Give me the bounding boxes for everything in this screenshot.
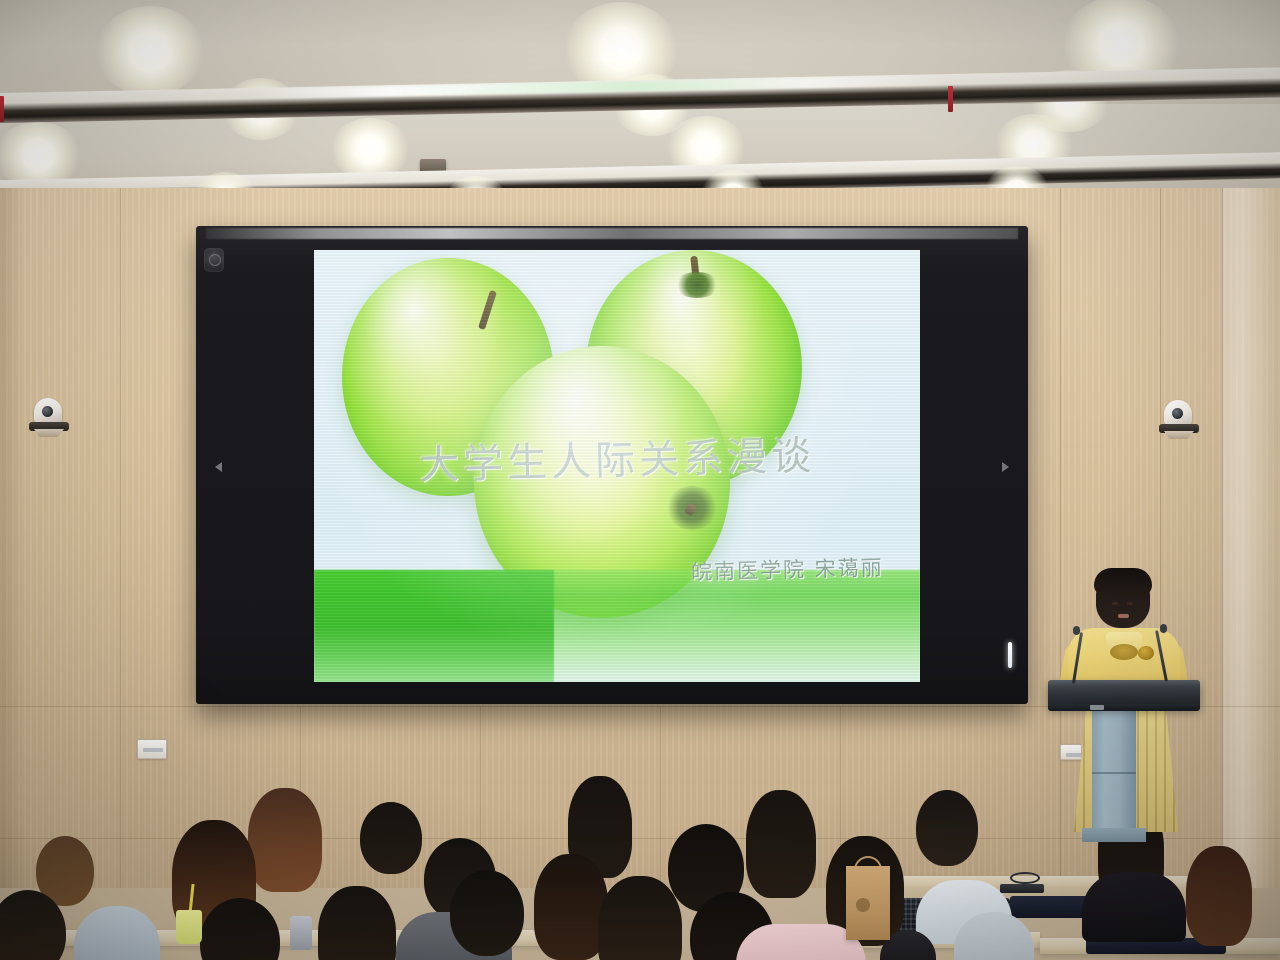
ceiling-red-marker [948, 86, 953, 112]
presenter-brooch [1138, 646, 1154, 660]
drink-cup[interactable] [176, 910, 202, 944]
presenter-eye-right [1127, 602, 1133, 605]
bezel-arrow-left-icon [215, 462, 222, 472]
podium-control-panel[interactable] [1090, 705, 1104, 710]
audience-head [534, 854, 608, 960]
camera-mount-arm [34, 429, 64, 437]
power-led-indicator [1008, 642, 1012, 668]
audience-head [318, 886, 396, 960]
wall-corner-right [1222, 188, 1280, 888]
audience-head [450, 870, 524, 956]
apple-calyx [674, 272, 720, 298]
wall-shadow-left [0, 188, 24, 888]
presenter-eye-left [1112, 602, 1118, 605]
lecture-hall-scene: 大学生人际关系漫谈 皖南医学院 宋蔼丽 [0, 0, 1280, 960]
podium-column [1092, 710, 1136, 832]
camera-lens-icon [42, 406, 53, 417]
ptz-camera-icon [28, 398, 70, 438]
bezel-glare [206, 228, 1018, 239]
podium-base [1082, 828, 1146, 842]
downlight [96, 6, 204, 96]
camera-lens-icon [1172, 408, 1183, 419]
audience-head [74, 906, 160, 960]
presentation-slide[interactable]: 大学生人际关系漫谈 皖南医学院 宋蔼丽 [314, 250, 920, 682]
wall-panel-seam [120, 188, 121, 888]
bezel-arrow-right-icon [1002, 462, 1009, 472]
audience-head [598, 876, 682, 960]
laptop[interactable] [1000, 884, 1044, 893]
audience-head [746, 790, 816, 898]
audience-torso [1082, 872, 1186, 942]
projection-screen[interactable]: 大学生人际关系漫谈 皖南医学院 宋蔼丽 [196, 226, 1028, 704]
presenter-bow [1110, 644, 1138, 660]
ptz-camera-icon [1158, 400, 1200, 440]
speaker-grille-icon [204, 248, 224, 272]
camera-mount-arm [1164, 431, 1194, 439]
microphone-head-right [1160, 624, 1167, 633]
audience-head [360, 802, 422, 874]
shopping-bag-logo-icon [856, 898, 870, 912]
audience-head [248, 788, 322, 892]
cable-coil [1010, 872, 1040, 884]
slide-table-surface-left [314, 570, 554, 682]
wall-outlet[interactable] [137, 739, 167, 759]
wall-panel-seam [1222, 188, 1223, 888]
podium-top-edge [1048, 704, 1200, 711]
podium-column-seam [1092, 772, 1136, 774]
ceiling-red-marker [0, 96, 4, 122]
presenter-fringe [1094, 568, 1152, 596]
audience-head [1186, 846, 1252, 946]
slide-author-line: 皖南医学院 宋蔼丽 [691, 552, 884, 587]
wall-panel-seam [660, 706, 661, 888]
audience-head [916, 790, 978, 866]
presenter-mouth [1118, 614, 1129, 618]
smartphone[interactable] [290, 916, 312, 950]
